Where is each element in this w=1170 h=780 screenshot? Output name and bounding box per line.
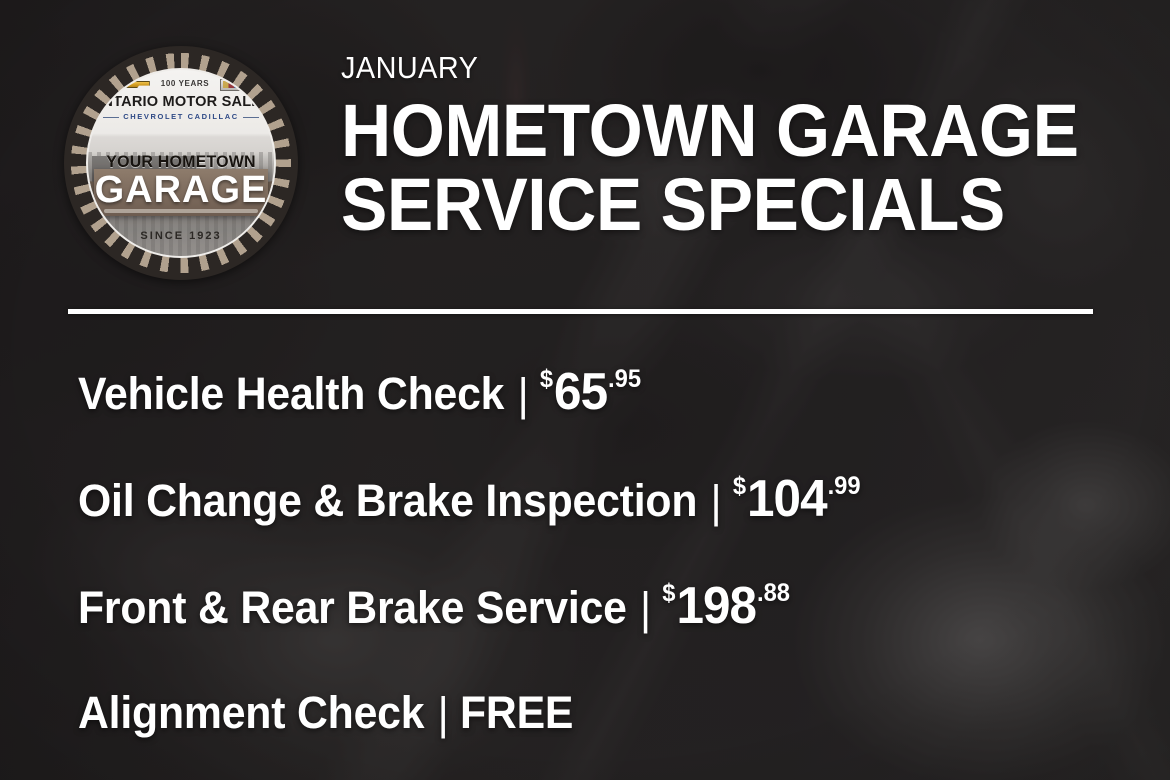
offer-separator: | [518,372,529,417]
price-amount: 104 [747,470,827,528]
headline-block: JANUARY HOMETOWN GARAGE SERVICE SPECIALS [341,52,1111,241]
offer-row-oil-change-brake-inspection: Oil Change & Brake Inspection|$104.99 [78,445,1108,552]
service-specials-poster: ONTARIO MOTOR SALES 100 YEARS ONTARIO MO… [0,0,1170,780]
years-badge-label: 100 YEARS [156,79,214,88]
page-title-line1: HOMETOWN GARAGE [341,95,1065,167]
currency-symbol: $ [540,365,553,393]
poster-content: ONTARIO MOTOR SALES 100 YEARS ONTARIO MO… [0,0,1170,780]
offer-price: $104.99 [733,473,861,525]
currency-symbol: $ [733,472,746,500]
offer-name: Front & Rear Brake Service [78,582,627,633]
offer-line: Alignment Check|FREE [78,690,573,735]
since-label: SINCE 1923 [88,230,274,242]
offer-row-front-rear-brake-service: Front & Rear Brake Service|$198.88 [78,552,1108,659]
offer-separator: | [438,691,449,736]
offer-price: FREE [460,687,573,738]
price-cents: .88 [757,579,790,607]
offer-line: Oil Change & Brake Inspection|$104.99 [78,473,861,525]
logo-ribbon: YOUR HOMETOWN GARAGE [86,169,276,216]
tagline-garage: GARAGE [94,172,268,208]
offers-list: Vehicle Health Check|$65.95 Oil Change &… [78,338,1108,766]
hometown-garage-logo: ONTARIO MOTOR SALES 100 YEARS ONTARIO MO… [64,46,298,280]
offer-line: Vehicle Health Check|$65.95 [78,366,641,418]
currency-symbol: $ [662,579,675,607]
price-amount: 198 [676,577,756,635]
offer-separator: | [640,586,651,631]
offer-line: Front & Rear Brake Service|$198.88 [78,580,790,632]
offer-row-vehicle-health-check: Vehicle Health Check|$65.95 [78,338,1108,445]
price-cents: .99 [828,472,861,500]
offer-name: Vehicle Health Check [78,368,504,419]
cadillac-crest-icon [220,79,242,91]
dealer-name: ONTARIO MOTOR SALES [91,93,271,110]
price-amount: 65 [554,363,607,421]
offer-price: $198.88 [662,580,790,632]
page-title-line2: SERVICE SPECIALS [341,169,1065,241]
chevrolet-bowtie-icon [120,79,150,90]
logo-emblem-row: 100 YEARS [88,78,274,91]
dealer-brands-label: CHEVROLET CADILLAC [123,112,238,121]
offer-name: Alignment Check [78,687,424,738]
offer-price: $65.95 [540,366,641,418]
ribbon-body: YOUR HOMETOWN GARAGE [94,169,268,216]
offer-row-alignment-check: Alignment Check|FREE [78,659,1108,766]
offer-name: Oil Change & Brake Inspection [78,475,697,526]
divider-rule [68,309,1093,314]
month-label: JANUARY [341,52,1057,83]
logo-inner-disc: ONTARIO MOTOR SALES 100 YEARS ONTARIO MO… [86,68,276,258]
price-cents: .95 [608,365,641,393]
dealer-brands: CHEVROLET CADILLAC [88,112,274,121]
rule-right-icon [243,117,259,118]
rule-left-icon [103,117,119,118]
logo-header: 100 YEARS ONTARIO MOTOR SALES CHEVROLET … [88,78,274,121]
offer-separator: | [711,479,722,524]
